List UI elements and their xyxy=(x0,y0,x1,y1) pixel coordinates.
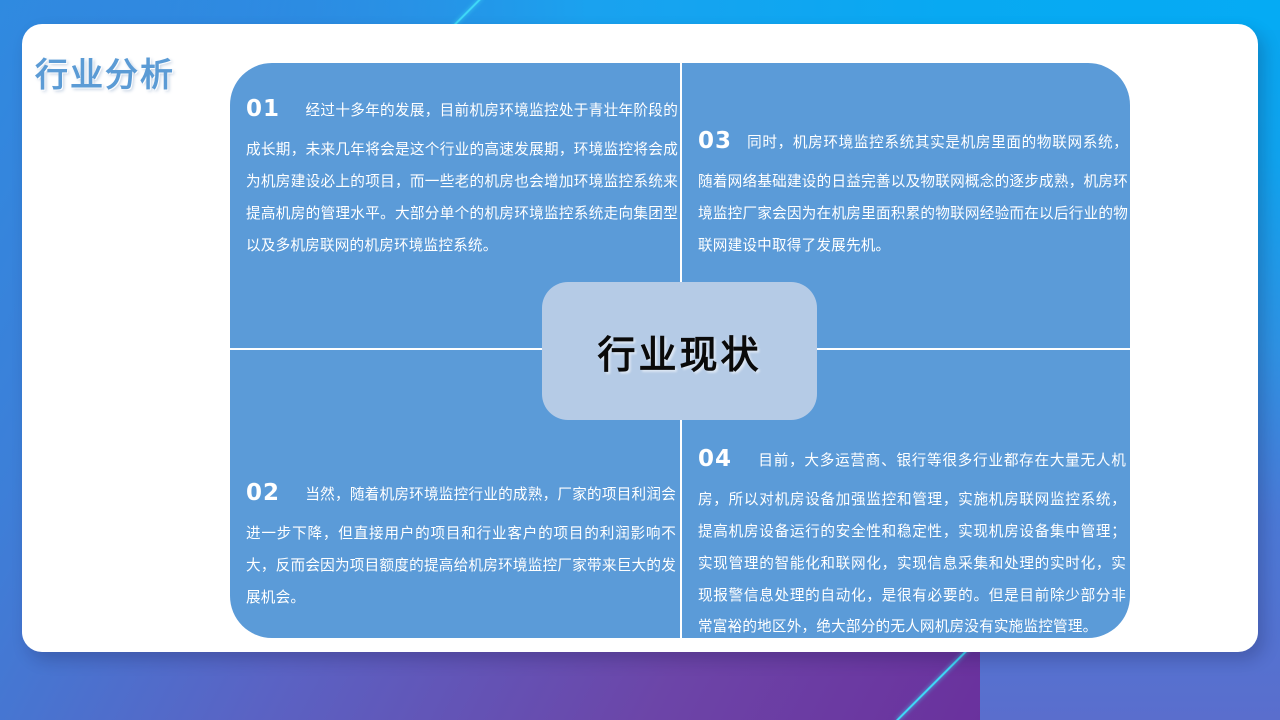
quadrant-item-04: 04 目前，大多运营商、银行等很多行业都存在大量无人机房，所以对机房设备加强监控… xyxy=(698,434,1126,643)
quadrant-item-03: 03 同时，机房环境监控系统其实是机房里面的物联网系统，随着网络基础建设的日益完… xyxy=(698,116,1128,262)
quadrant-number-01: 01 xyxy=(246,96,280,122)
quadrant-text-01: 经过十多年的发展，目前机房环境监控处于青壮年阶段的成长期，未来几年将会是这个行业… xyxy=(246,102,678,254)
quadrant-item-01: 01 经过十多年的发展，目前机房环境监控处于青壮年阶段的成长期，未来几年将会是这… xyxy=(246,84,678,261)
slide-root: 行业分析 01 经过十多年的发展，目前机房环境监控处于青壮年阶段的成长期，未来几… xyxy=(0,0,1280,720)
center-badge-label: 行业现状 xyxy=(597,324,761,379)
quadrant-item-02: 02 当然，随着机房环境监控行业的成熟，厂家的项目利润会进一步下降，但直接用户的… xyxy=(246,468,676,614)
quadrant-text-04: 目前，大多运营商、银行等很多行业都存在大量无人机房，所以对机房设备加强监控和管理… xyxy=(698,452,1126,635)
quadrant-number-02: 02 xyxy=(246,480,280,506)
quadrant-number-04: 04 xyxy=(698,446,732,472)
quadrant-text-02: 当然，随着机房环境监控行业的成熟，厂家的项目利润会进一步下降，但直接用户的项目和… xyxy=(246,486,676,606)
center-badge: 行业现状 xyxy=(542,282,817,420)
quadrant-text-03: 同时，机房环境监控系统其实是机房里面的物联网系统，随着网络基础建设的日益完善以及… xyxy=(698,134,1128,254)
page-title: 行业分析 xyxy=(35,48,175,96)
quadrant-number-03: 03 xyxy=(698,128,732,154)
